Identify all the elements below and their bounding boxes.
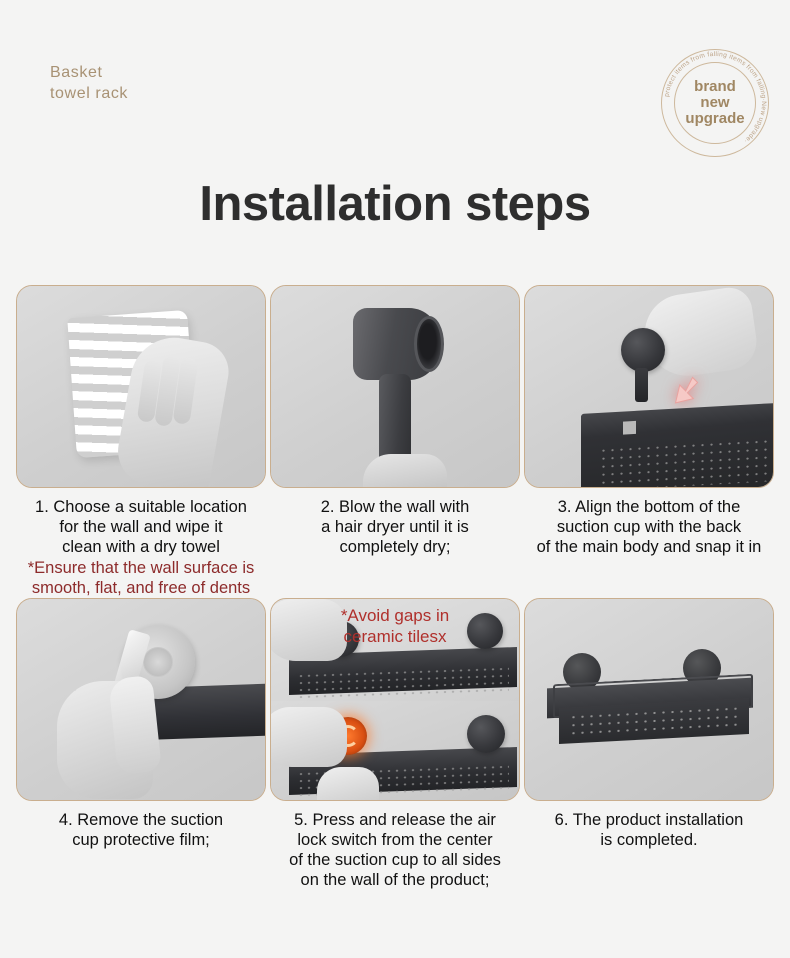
hand-wiping-wall-image — [17, 286, 265, 487]
step-4-warning — [16, 850, 266, 851]
step-5-warning — [270, 890, 520, 891]
pink-arrow-icon — [667, 374, 701, 408]
hand-graphic — [271, 707, 347, 767]
step-item-3: 3. Align the bottom of the suction cup w… — [524, 285, 774, 598]
step-6-photo — [524, 598, 774, 801]
step-5-photo: *Avoid gaps in ceramic tilesx — [270, 598, 520, 801]
step-2-photo — [270, 285, 520, 488]
badge-line-3: upgrade — [685, 111, 744, 127]
page-title: Installation steps — [0, 176, 790, 232]
hair-dryer-image — [271, 286, 519, 487]
step-6-warning — [524, 850, 774, 851]
step-6-caption: 6. The product installation is completed… — [524, 801, 774, 850]
step-3-caption: 3. Align the bottom of the suction cup w… — [524, 488, 774, 557]
suction-cup-graphic — [467, 715, 505, 753]
suction-cup-graphic — [621, 328, 665, 372]
step-item-2: 2. Blow the wall with a hair dryer until… — [270, 285, 520, 598]
remove-film-image — [17, 599, 265, 800]
hand-graphic — [363, 454, 447, 488]
brand-title-line2: towel rack — [50, 83, 128, 104]
step-3-warning — [524, 557, 774, 558]
step-item-5: *Avoid gaps in ceramic tilesx 5. Press a… — [270, 598, 520, 891]
badge-line-2: new — [700, 95, 729, 111]
brand-title: Basket towel rack — [50, 62, 128, 104]
finished-product-image — [525, 599, 773, 800]
shelf-body-graphic — [581, 402, 774, 488]
product-stage — [525, 599, 773, 800]
badge-line-1: brand — [694, 79, 736, 95]
shelf-clip-graphic — [623, 421, 636, 435]
step-item-6: 6. The product installation is completed… — [524, 598, 774, 891]
step-1-caption: 1. Choose a suitable location for the wa… — [16, 488, 266, 557]
suction-cup-stem-graphic — [635, 368, 648, 402]
hair-dryer-nozzle-graphic — [414, 316, 444, 372]
step-5-caption: 5. Press and release the air lock switch… — [270, 801, 520, 890]
step-2-caption: 2. Blow the wall with a hair dryer until… — [270, 488, 520, 557]
brand-new-upgrade-badge: protect items from falling items from fa… — [661, 49, 769, 157]
step-4-photo — [16, 598, 266, 801]
step-3-photo — [524, 285, 774, 488]
press-switch-image-bottom — [271, 701, 519, 801]
suction-cup-align-image — [525, 286, 773, 487]
step-1-warning: *Ensure that the wall surface is smooth,… — [16, 557, 266, 598]
installation-steps-grid: 1. Choose a suitable location for the wa… — [16, 285, 774, 891]
shelf-perforation-graphic — [599, 436, 774, 488]
badge-center-text: brand new upgrade — [674, 62, 756, 144]
brand-title-line1: Basket — [50, 64, 103, 81]
suction-cup-core-graphic — [143, 647, 173, 677]
step-item-4: 4. Remove the suction cup protective fil… — [16, 598, 266, 891]
step-5-overlay-note: *Avoid gaps in ceramic tilesx — [271, 605, 519, 647]
hand-graphic — [317, 767, 379, 801]
step-1-photo — [16, 285, 266, 488]
step-item-1: 1. Choose a suitable location for the wa… — [16, 285, 266, 598]
step-2-warning — [270, 557, 520, 558]
step-4-caption: 4. Remove the suction cup protective fil… — [16, 801, 266, 850]
